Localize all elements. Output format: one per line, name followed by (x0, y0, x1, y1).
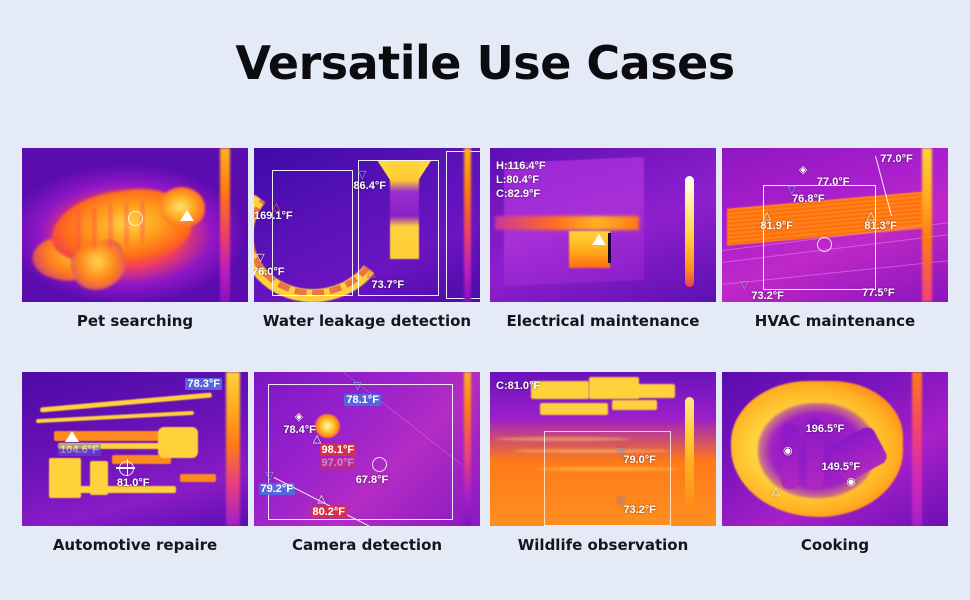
temperature-color-bar (464, 372, 471, 526)
spot-marker-icon: ◉ (846, 477, 856, 488)
temp-label-low: L:80.4°F (496, 174, 539, 186)
use-case-grid: Pet searching ▽ 86.4°F △ 169.1°F ▽ (22, 148, 948, 596)
min-temp-marker-icon: ▽ (265, 471, 273, 482)
max-temp-marker-icon: △ (367, 268, 375, 279)
thermal-stripe (76, 210, 81, 250)
min-temp-marker-icon: ▽ (358, 170, 366, 181)
temp-label: 76.0°F (254, 266, 285, 278)
temp-label: 98.1°F (320, 444, 357, 456)
thermal-image-cooking[interactable]: ◉ ◉ △ 196.5°F 149.5°F (722, 372, 948, 526)
use-case-caption: Water leakage detection (254, 312, 480, 330)
thermal-image-camera-detection[interactable]: ▽ 78.1°F ◈ 78.4°F △ 98.1°F 97.0°F 67.8°F… (254, 372, 480, 526)
max-temp-marker-icon: △ (317, 494, 325, 505)
use-case-card-hvac-maintenance[interactable]: ◈ 77.0°F 77.0°F ▽ 76.8°F △ 81.9°F △ 81.3… (722, 148, 948, 330)
max-temp-marker-icon: △ (772, 486, 780, 497)
temperature-color-bar (685, 397, 694, 511)
use-case-caption: HVAC maintenance (722, 312, 948, 330)
max-temp-marker-icon: △ (313, 434, 321, 445)
use-case-caption: Cooking (722, 536, 948, 554)
spot-marker-icon: ◈ (295, 412, 303, 423)
thermal-image-pet-searching[interactable] (22, 148, 248, 302)
thermal-image-automotive[interactable]: 104.6°F 81.0°F 78.3°F (22, 372, 248, 526)
temp-label: 78.1°F (344, 394, 381, 406)
temp-label: 86.4°F (353, 180, 386, 192)
use-cases-page: Versatile Use Cases (0, 0, 970, 600)
max-temp-marker-icon (65, 431, 79, 442)
engine-part (40, 392, 212, 412)
thermal-image-hvac[interactable]: ◈ 77.0°F 77.0°F ▽ 76.8°F △ 81.9°F △ 81.3… (722, 148, 948, 302)
thermal-image-water-leakage[interactable]: ▽ 86.4°F △ 169.1°F ▽ 76.0°F △ 73.7°F (254, 148, 480, 302)
thermal-image-electrical[interactable]: H:116.4°F L:80.4°F C:82.9°F (490, 148, 716, 302)
temp-label: 81.9°F (760, 220, 793, 232)
temp-label: 73.2°F (751, 290, 784, 302)
temp-label: 77.5°F (862, 287, 895, 299)
temp-label: 149.5°F (821, 461, 860, 473)
crosshair-line (127, 459, 128, 476)
temp-label: 77.0°F (817, 176, 850, 188)
engine-part (180, 474, 216, 482)
spot-temp-marker-icon: ▽ (256, 253, 264, 264)
temp-label: 73.2°F (623, 504, 656, 516)
temperature-color-bar (464, 148, 471, 302)
spot-marker-icon: ◉ (783, 446, 793, 457)
use-case-caption: Electrical maintenance (490, 312, 716, 330)
engine-part (158, 427, 199, 458)
spot-marker-icon: ◈ (799, 165, 807, 176)
thermal-image-wildlife[interactable]: C:81.0°F ▽ 79.0°F ▽ 73.2°F (490, 372, 716, 526)
use-case-caption: Camera detection (254, 536, 480, 554)
min-temp-marker-icon: ▽ (740, 280, 748, 291)
use-case-card-pet-searching[interactable]: Pet searching (22, 148, 248, 330)
temp-label-center: C:81.0°F (496, 380, 540, 392)
terrain-feature (540, 403, 608, 415)
min-temp-marker-icon: ▽ (353, 381, 361, 392)
hotspot-marker-icon (180, 210, 194, 221)
temp-label: 79.0°F (623, 454, 656, 466)
temp-label: 78.4°F (283, 424, 316, 436)
terrain-feature (589, 377, 639, 399)
engine-part (36, 411, 194, 423)
use-case-caption: Wildlife observation (490, 536, 716, 554)
temp-label: 104.6°F (58, 444, 101, 456)
temperature-color-bar (922, 148, 932, 302)
crosshair-line (116, 467, 135, 468)
hotspot-marker-icon (592, 234, 606, 245)
temp-label: 196.5°F (806, 423, 845, 435)
use-case-row-1: Pet searching ▽ 86.4°F △ 169.1°F ▽ (22, 148, 948, 372)
use-case-row-2: 104.6°F 81.0°F 78.3°F Automotive repaire (22, 372, 948, 596)
temp-label-center: C:82.9°F (496, 188, 540, 200)
thermal-hot-band (495, 216, 640, 230)
temp-label: 81.3°F (864, 220, 897, 232)
terrain-feature (635, 384, 676, 398)
temp-label: 80.2°F (311, 506, 348, 518)
temp-label: 81.0°F (117, 477, 150, 489)
use-case-card-electrical-maintenance[interactable]: H:116.4°F L:80.4°F C:82.9°F Electrical m… (490, 148, 716, 330)
center-spot-marker-icon (372, 457, 387, 472)
use-case-card-water-leakage-detection[interactable]: ▽ 86.4°F △ 169.1°F ▽ 76.0°F △ 73.7°F Wat… (254, 148, 480, 330)
temp-label: 169.1°F (254, 210, 293, 222)
use-case-caption: Pet searching (22, 312, 248, 330)
temp-label: 73.7°F (372, 279, 405, 291)
use-case-card-camera-detection[interactable]: ▽ 78.1°F ◈ 78.4°F △ 98.1°F 97.0°F 67.8°F… (254, 372, 480, 554)
thermal-stripe (124, 202, 129, 248)
temperature-color-bar (912, 372, 922, 526)
temperature-color-bar (685, 176, 694, 287)
use-case-card-automotive-repaire[interactable]: 104.6°F 81.0°F 78.3°F Automotive repaire (22, 372, 248, 554)
use-case-caption: Automotive repaire (22, 536, 248, 554)
temperature-color-bar (226, 372, 240, 526)
temp-label-high: H:116.4°F (496, 160, 546, 172)
thermal-cold-bar (608, 233, 611, 264)
page-title: Versatile Use Cases (0, 36, 970, 90)
thermal-stripe (92, 207, 97, 250)
temperature-color-bar (220, 148, 230, 302)
use-case-card-cooking[interactable]: ◉ ◉ △ 196.5°F 149.5°F Cooking (722, 372, 948, 554)
temp-label: 97.0°F (320, 457, 357, 469)
temp-label: 76.8°F (792, 193, 825, 205)
thermal-stripe (108, 203, 113, 249)
temp-label: 78.3°F (185, 378, 222, 390)
use-case-card-wildlife-observation[interactable]: C:81.0°F ▽ 79.0°F ▽ 73.2°F Wildlife obse… (490, 372, 716, 554)
temp-label: 67.8°F (356, 474, 389, 486)
terrain-feature (612, 400, 657, 410)
temp-label: 77.0°F (880, 153, 913, 165)
